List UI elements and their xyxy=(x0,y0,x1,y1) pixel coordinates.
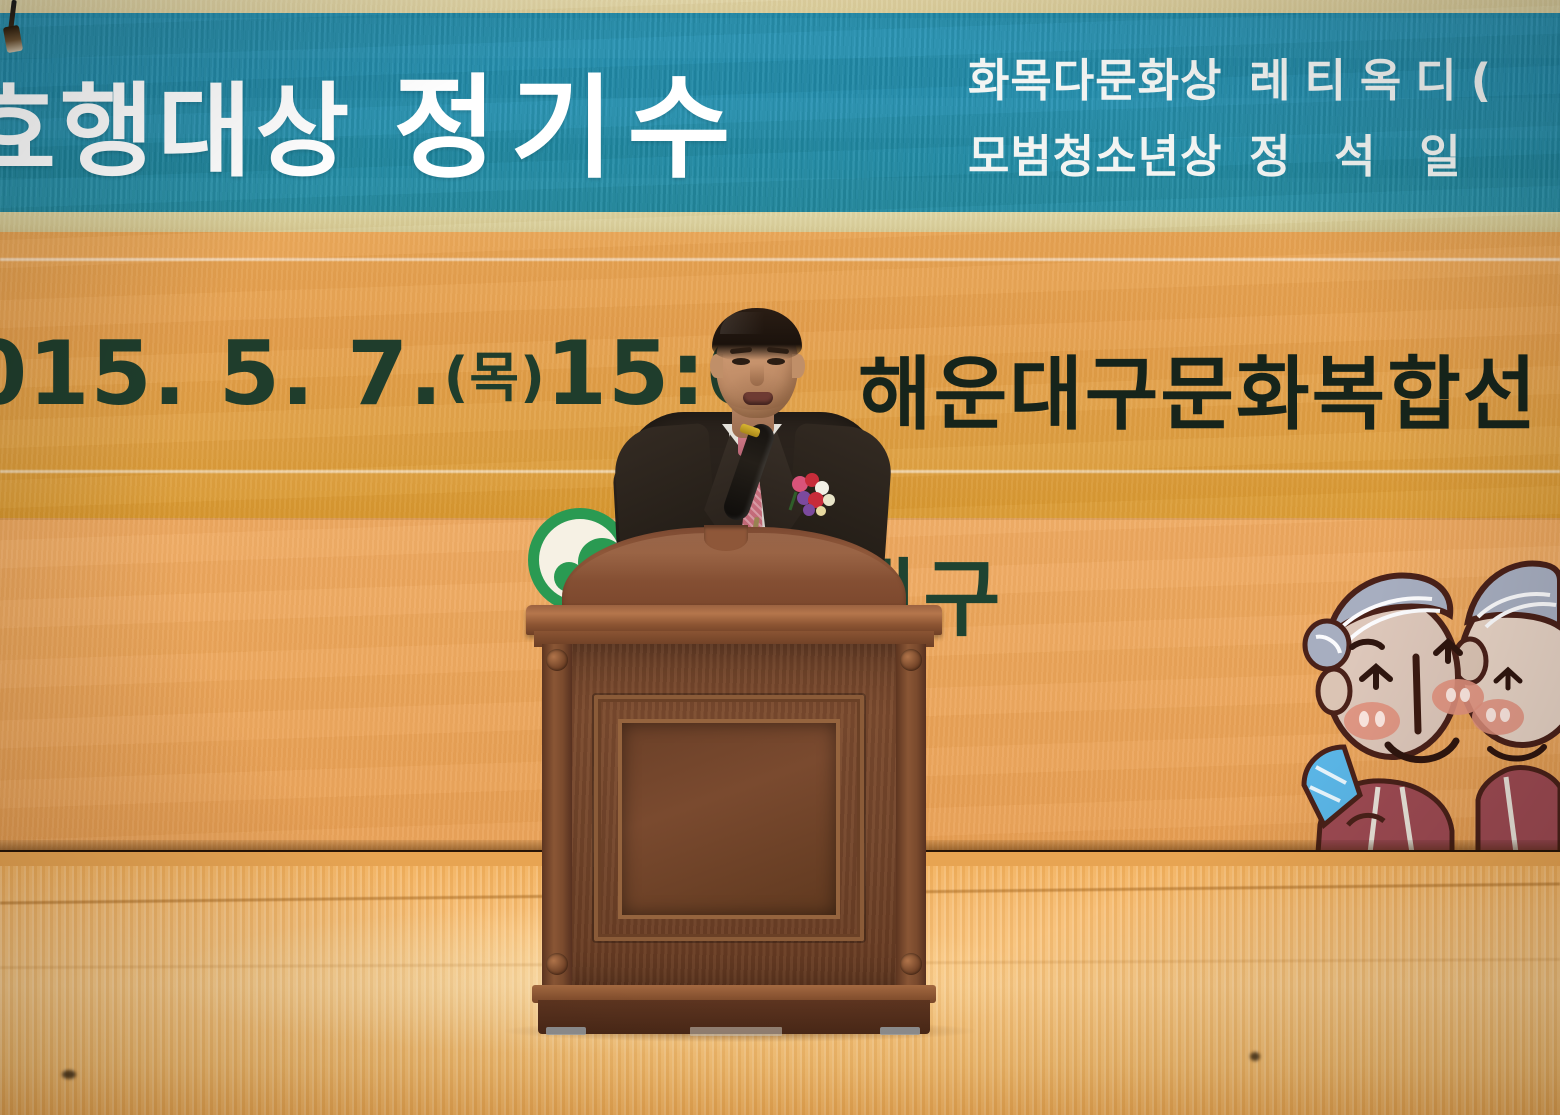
lectern-rosette-bottom-left xyxy=(546,953,568,975)
wooden-lectern xyxy=(520,527,948,1027)
floor-mark-2 xyxy=(1250,1052,1260,1061)
speaker-eye-right xyxy=(767,358,785,365)
banner-hairline-1 xyxy=(0,258,1560,261)
banner-headline: 효행대상정기수 xyxy=(0,38,745,200)
speaker-ear-right xyxy=(792,354,805,378)
lectern-pilaster-left xyxy=(542,644,572,989)
speaker-nose xyxy=(750,364,764,386)
floor-mark-1 xyxy=(62,1070,76,1079)
speaker-mouth xyxy=(743,392,773,405)
speaker-eye-left xyxy=(732,358,750,365)
lectern-foot-left xyxy=(546,1027,586,1035)
side-award-1-label: 화목다문화상 xyxy=(968,54,1222,107)
headline-award-label: 효행대상 xyxy=(0,73,353,192)
side-award-2-label: 모범청소년상 xyxy=(968,130,1222,183)
elderly-couple-svg xyxy=(1300,495,1560,852)
date-text: 015. 5. 7. xyxy=(0,322,444,425)
headline-recipient-name: 정기수 xyxy=(393,64,744,194)
banner-venue: 해운대구문화복합선 xyxy=(858,330,1538,446)
banner-side-line-1: 화목다문화상 레티옥디( xyxy=(968,44,1505,109)
elderly-couple-illustration xyxy=(1300,495,1560,852)
side-recipient-1-name: 레티옥디( xyxy=(1249,54,1505,107)
lectern-rosette-top-right xyxy=(900,649,922,671)
side-recipient-2-name: 정 석 일 xyxy=(1249,130,1475,183)
lectern-floor-tape xyxy=(690,1027,782,1036)
lectern-panel-inner xyxy=(618,719,840,919)
lectern-rosette-top-left xyxy=(546,649,568,671)
banner-side-line-2: 모범청소년상 정 석 일 xyxy=(968,120,1475,185)
date-weekday: (목) xyxy=(444,346,546,409)
corsage-svg xyxy=(788,470,842,520)
lectern-foot-right xyxy=(880,1027,920,1035)
lectern-rosette-bottom-right xyxy=(900,953,922,975)
stage-photo-scene: 효행대상정기수 화목다문화상 레티옥디( 모범청소년상 정 석 일 015. 5… xyxy=(0,0,1560,1115)
speaker-ear-left xyxy=(710,354,723,378)
lectern-top-notch xyxy=(704,525,748,551)
banner-cream-divider-stripe xyxy=(0,212,1560,234)
banner-top-cream-stripe xyxy=(0,0,1560,14)
flower-corsage xyxy=(788,470,842,520)
lectern-pilaster-right xyxy=(896,644,926,989)
cartoon-figure-front xyxy=(1304,575,1484,852)
